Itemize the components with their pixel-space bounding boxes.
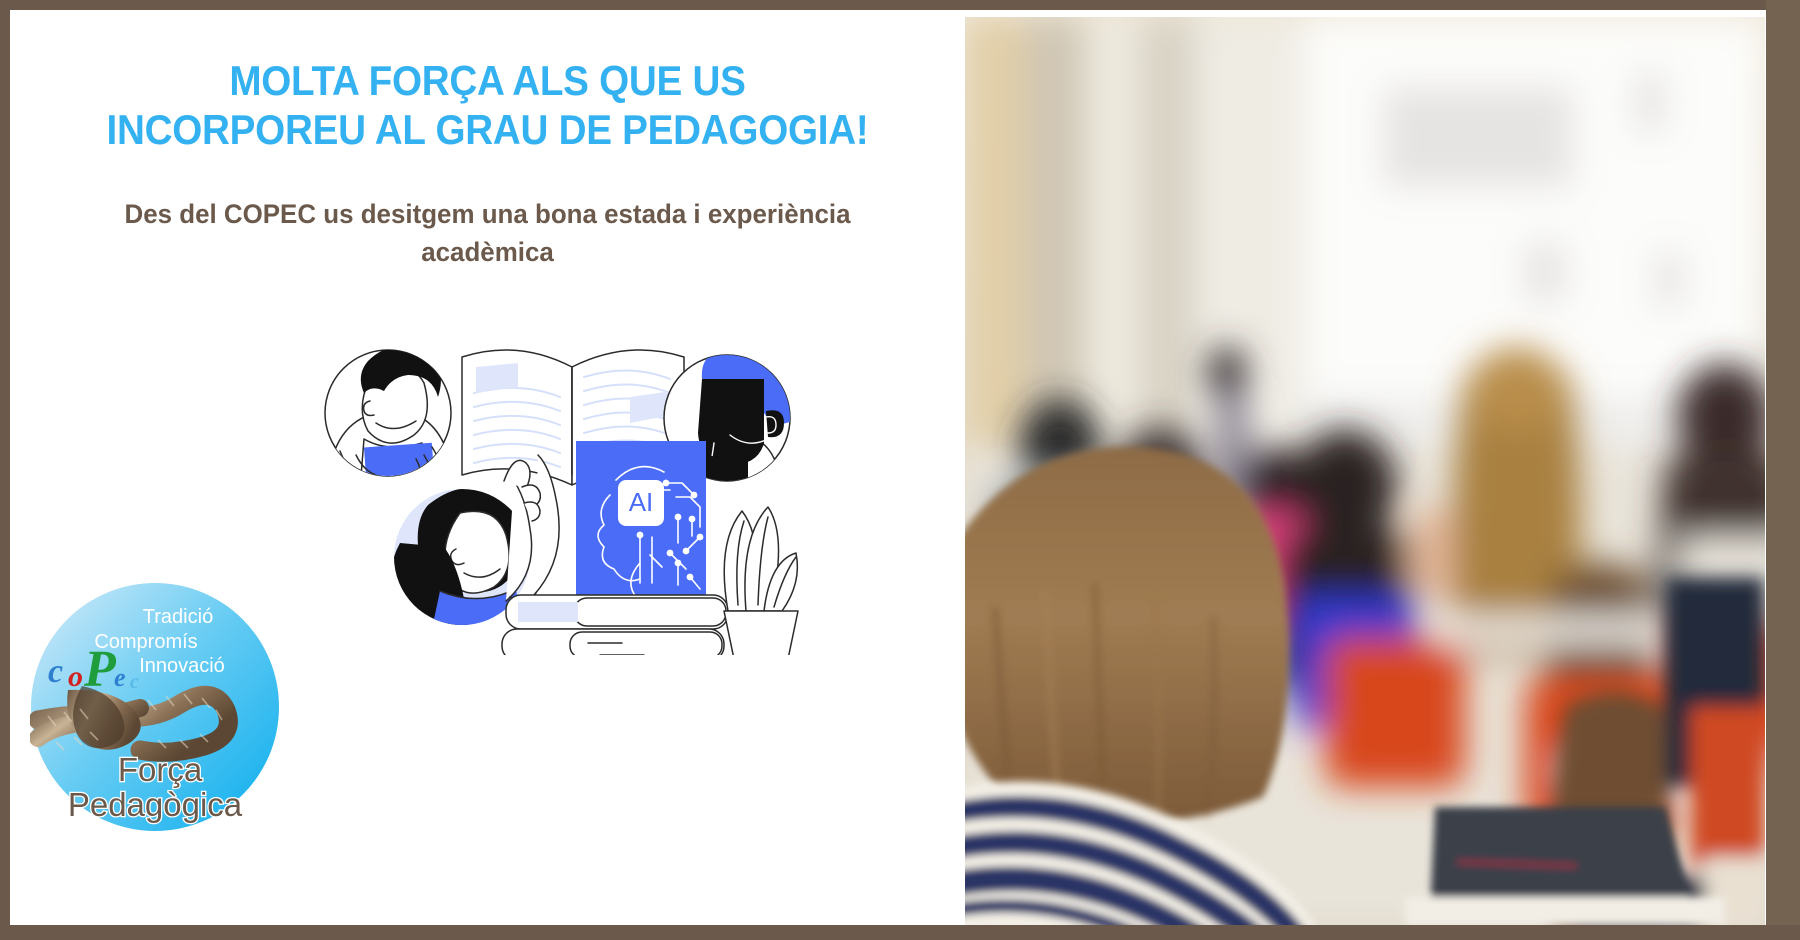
frame-right-border [1766, 0, 1800, 940]
logo-title-line-2: Pedagògica [68, 786, 243, 823]
ai-card-label: AI [629, 487, 654, 517]
logo-title-line-1: Força [118, 751, 203, 788]
page-title: MOLTA FORÇA ALS QUE US INCORPOREU AL GRA… [48, 56, 927, 154]
subtitle-text: Des del COPEC us desitgem una bona estad… [87, 195, 889, 272]
frame-top-border [0, 0, 1800, 10]
wordmark-letter-e: e [114, 663, 126, 692]
copec-logo: Tradició Compromís Innovació c o P e c [30, 582, 280, 832]
classroom-photo [965, 17, 1765, 925]
headline-line-2: INCORPOREU AL GRAU DE PEDAGOGIA! [48, 105, 927, 154]
wordmark-letter-c1: c [48, 653, 63, 690]
logo-tagline-3: Innovació [139, 655, 225, 677]
education-ai-illustration: AI [310, 305, 830, 655]
wordmark-letter-o: o [68, 660, 83, 693]
wordmark-letter-c2: c [130, 671, 139, 693]
frame-left-border [0, 0, 10, 932]
headline-line-1: MOLTA FORÇA ALS QUE US [48, 56, 927, 105]
poster-root: MOLTA FORÇA ALS QUE US INCORPOREU AL GRA… [0, 0, 1800, 940]
content-card: MOLTA FORÇA ALS QUE US INCORPOREU AL GRA… [10, 10, 965, 925]
logo-tagline-1: Tradició [143, 606, 213, 628]
frame-bottom-border [0, 925, 1800, 940]
